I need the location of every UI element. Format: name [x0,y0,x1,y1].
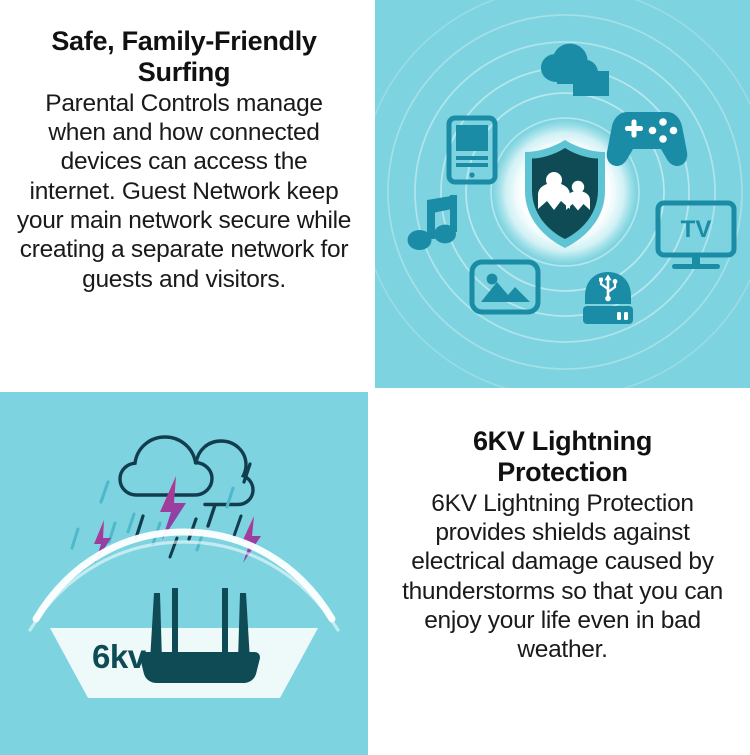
router-antenna-2 [172,588,178,661]
safe-surfing-heading: Safe, Family-Friendly Surfing [19,26,349,88]
panel-network-radar-art: TV [368,0,750,388]
protection-arc-inner [30,542,338,630]
router-antenna-3 [222,588,228,661]
infographic-root: Safe, Family-Friendly Surfing Parental C… [0,0,750,755]
lightning-heading: 6KV Lightning Protection [408,426,718,488]
router-antenna-4 [238,593,250,661]
tv-screen-label: TV [681,216,712,243]
storm-cloud-icon [120,437,253,505]
photo-icon [472,262,538,312]
router-antenna-1 [150,593,162,661]
panel-lightning-text: 6KV Lightning Protection 6KV Lightning P… [368,388,750,755]
cloud-storage-icon [541,44,609,96]
panel-surge-protection-art: 6kv [0,388,368,755]
panel-safe-surfing-text: Safe, Family-Friendly Surfing Parental C… [0,0,368,388]
lightning-body: 6KV Lightning Protection provides shield… [389,489,736,665]
surge-protection-illustration: 6kv [0,392,368,755]
tablet-icon [449,118,495,182]
usb-drive-icon [583,272,633,324]
surge-badge-label: 6kv [92,638,147,675]
protection-arcs [30,532,338,630]
game-controller-icon [607,112,687,166]
network-radar-illustration: TV [375,0,750,388]
safe-surfing-body: Parental Controls manage when and how co… [15,89,353,295]
router-body [140,652,260,683]
